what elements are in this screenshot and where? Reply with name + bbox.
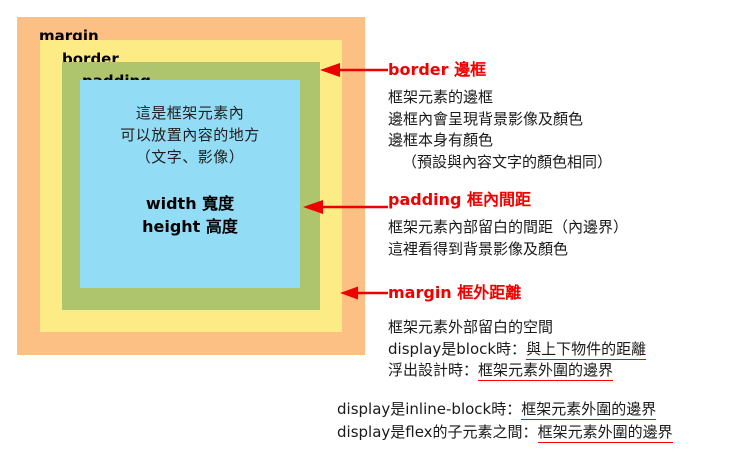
content-height-label: height 高度	[80, 216, 300, 239]
content-line-2: 可以放置內容的地方	[80, 124, 300, 146]
callout-padding: padding 框內間距 框架元素內部留白的間距（內邊界） 這裡看得到背景影像及…	[388, 192, 628, 260]
box-model-diagram: margin border padding 這是框架元素內 可以放置內容的地方 …	[17, 17, 365, 355]
callout-margin-line-1: 框架元素外部留白的空間	[388, 317, 646, 339]
content-line-1: 這是框架元素內	[80, 102, 300, 124]
callout-margin-line-2: display是block時：與上下物件的距離	[388, 339, 646, 361]
callout-border-body: 框架元素的邊框 邊框內會呈現背景影像及顏色 邊框本身有顏色 （預設與內容文字的顏…	[388, 87, 612, 173]
callout-margin-line-3-prefix: 浮出設計時：	[388, 361, 478, 379]
callout-border-line-3: 邊框本身有顏色	[388, 130, 612, 152]
callout-padding-line-2: 這裡看得到背景影像及顏色	[388, 239, 628, 261]
bottom-note-2-prefix: display是flex的子元素之間：	[337, 423, 538, 441]
callout-margin-line-2-emphasis: 與上下物件的距離	[526, 340, 646, 360]
callout-margin-line-3: 浮出設計時：框架元素外圍的邊界	[388, 360, 646, 382]
callout-padding-title: padding 框內間距	[388, 192, 628, 208]
callout-margin-title: margin 框外距離	[388, 285, 646, 301]
callout-border-line-1: 框架元素的邊框	[388, 87, 612, 109]
bottom-note-2-emphasis: 框架元素外圍的邊界	[538, 423, 673, 443]
margin-pointer-arrow	[340, 285, 388, 301]
callout-margin-line-3-emphasis: 框架元素外圍的邊界	[478, 361, 613, 381]
content-line-3: （文字、影像）	[80, 146, 300, 168]
callout-margin-line-2-prefix: display是block時：	[388, 340, 526, 358]
content-description: 這是框架元素內 可以放置內容的地方 （文字、影像）	[80, 102, 300, 168]
border-pointer-arrow	[320, 62, 388, 78]
bottom-note-2: display是flex的子元素之間：框架元素外圍的邊界	[337, 421, 673, 444]
content-layer: 這是框架元素內 可以放置內容的地方 （文字、影像） width 寬度 heigh…	[80, 80, 300, 288]
callout-padding-body: 框架元素內部留白的間距（內邊界） 這裡看得到背景影像及顏色	[388, 217, 628, 260]
callout-border-line-2: 邊框內會呈現背景影像及顏色	[388, 109, 612, 131]
callout-margin: margin 框外距離 框架元素外部留白的空間 display是block時：與…	[388, 285, 646, 382]
callout-border-title: border 邊框	[388, 62, 612, 78]
callout-padding-line-1: 框架元素內部留白的間距（內邊界）	[388, 217, 628, 239]
bottom-note-1: display是inline-block時：框架元素外圍的邊界	[337, 398, 673, 421]
callout-border-line-4: （預設與內容文字的顏色相同）	[388, 152, 612, 174]
bottom-notes: display是inline-block時：框架元素外圍的邊界 display是…	[337, 398, 673, 443]
callout-margin-body: 框架元素外部留白的空間 display是block時：與上下物件的距離 浮出設計…	[388, 317, 646, 382]
padding-pointer-arrow	[303, 199, 388, 215]
content-width-label: width 寬度	[80, 193, 300, 216]
bottom-note-1-prefix: display是inline-block時：	[337, 400, 521, 418]
bottom-note-1-emphasis: 框架元素外圍的邊界	[521, 400, 656, 420]
content-dimensions: width 寬度 height 高度	[80, 193, 300, 238]
callout-border: border 邊框 框架元素的邊框 邊框內會呈現背景影像及顏色 邊框本身有顏色 …	[388, 62, 612, 173]
